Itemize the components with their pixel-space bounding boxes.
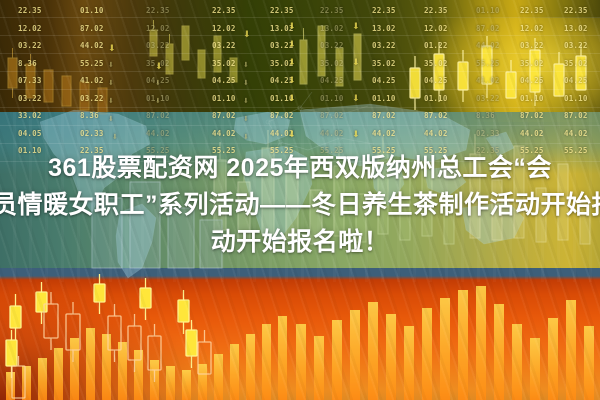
banner-image: 22.3501.1022.3522.3522.3522.3522.3522.35… xyxy=(0,0,600,400)
vertical-stripes xyxy=(0,112,600,282)
